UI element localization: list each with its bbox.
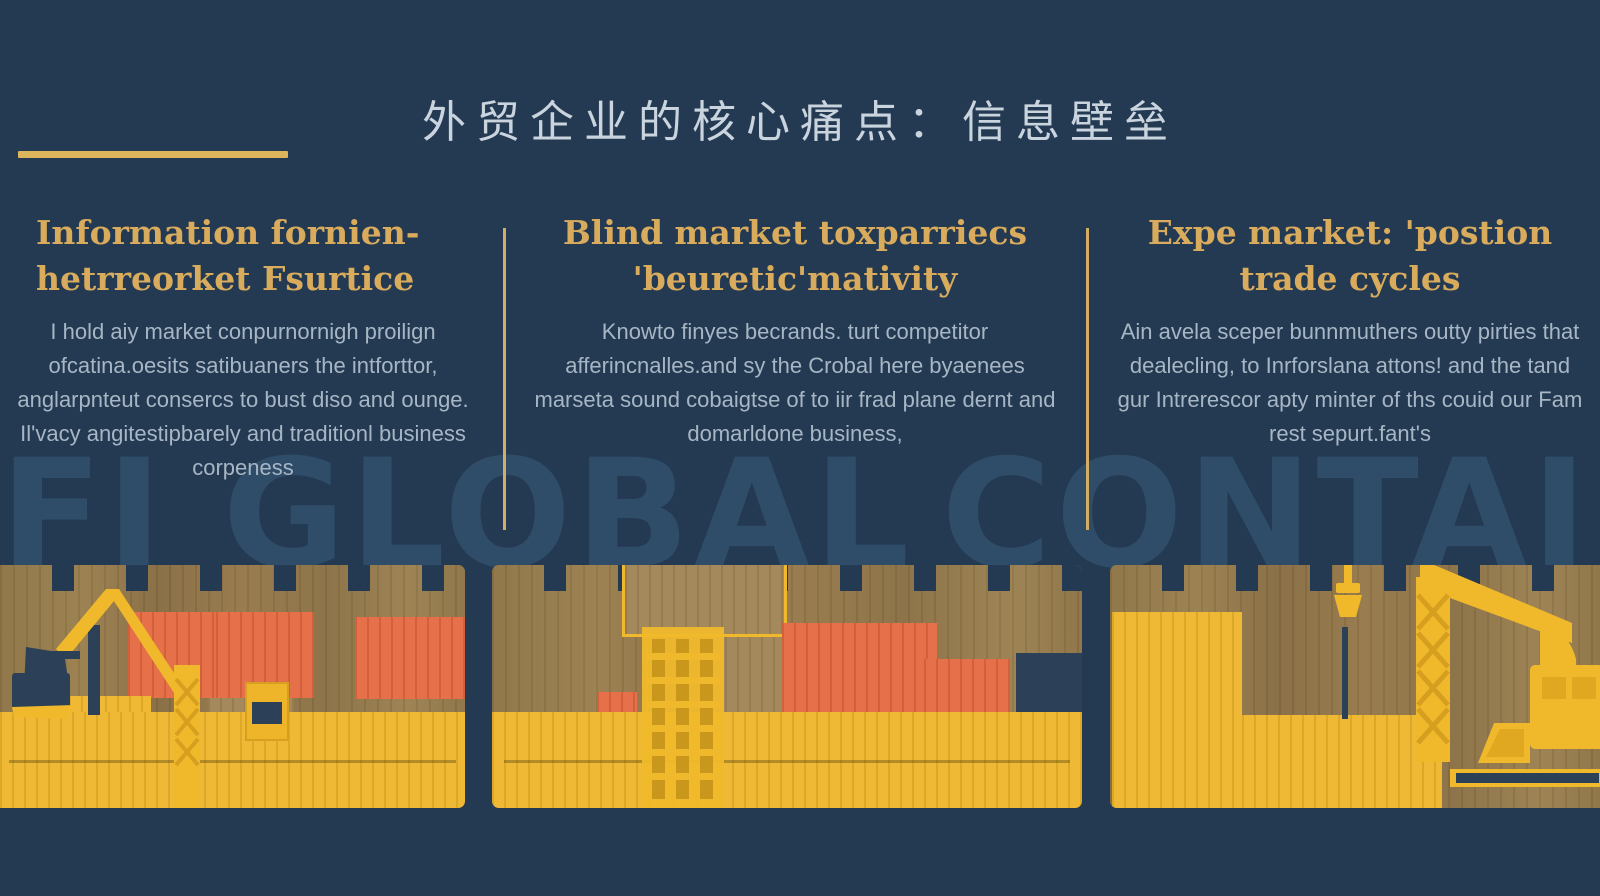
page-title: 外贸企业的核心痛点：信息壁垒 [0, 86, 1600, 150]
red-container-lower-right [924, 659, 1010, 715]
column-2-heading: Expe market: 'postion trade cycles [1115, 210, 1585, 301]
column-0-body: I hold aiy market conpurnornigh proilign… [8, 315, 478, 485]
slide-header: 外贸企业的核心痛点：信息壁垒 [0, 0, 1600, 200]
illustration-mobile-crane-grab-bucket [1110, 565, 1600, 808]
illustration-panels [0, 565, 1600, 815]
column-1-heading: Blind market toxparriecs 'beuretic'mativ… [530, 210, 1060, 301]
mobile-crane-icon [1390, 565, 1600, 808]
column-0-heading: Information fornien-hetrreorket Fsurtice [8, 210, 478, 301]
slide-root: FI GLOBAL CONTAINER LOGISTIA 外贸企业的核心痛点：信… [0, 0, 1600, 896]
yellow-container-row [492, 712, 1082, 808]
hoist-cable [1342, 627, 1348, 719]
fence-structure [1016, 653, 1082, 715]
columns-container: Information fornien-hetrreorket Fsurtice… [0, 210, 1600, 550]
title-accent-bar [18, 151, 288, 158]
gantry-ladder-icon [642, 627, 724, 808]
column-1-body: Knowto finyes becrands. turt competitor … [530, 315, 1060, 451]
column-2-body: Ain avela sceper bunnmuthers outty pirti… [1115, 315, 1585, 451]
port-crane-icon [6, 587, 246, 808]
column-0: Information fornien-hetrreorket Fsurtice… [8, 210, 478, 540]
illustration-port-crane-container-yard [0, 565, 465, 808]
yard-machine-box [245, 682, 289, 741]
column-divider-1 [1086, 228, 1089, 530]
red-container-right [355, 617, 465, 699]
column-2: Expe market: 'postion trade cycles Ain a… [1115, 210, 1585, 540]
column-1: Blind market toxparriecs 'beuretic'mativ… [530, 210, 1060, 540]
yellow-container-block-lower [1112, 708, 1242, 808]
illustration-stacked-containers-gantry [492, 565, 1082, 808]
column-divider-0 [503, 228, 506, 530]
yellow-container-block-upper [1112, 612, 1242, 708]
red-container-upper [782, 623, 937, 715]
grab-bucket-icon [1324, 565, 1372, 631]
panel-top-notches [492, 565, 1082, 591]
